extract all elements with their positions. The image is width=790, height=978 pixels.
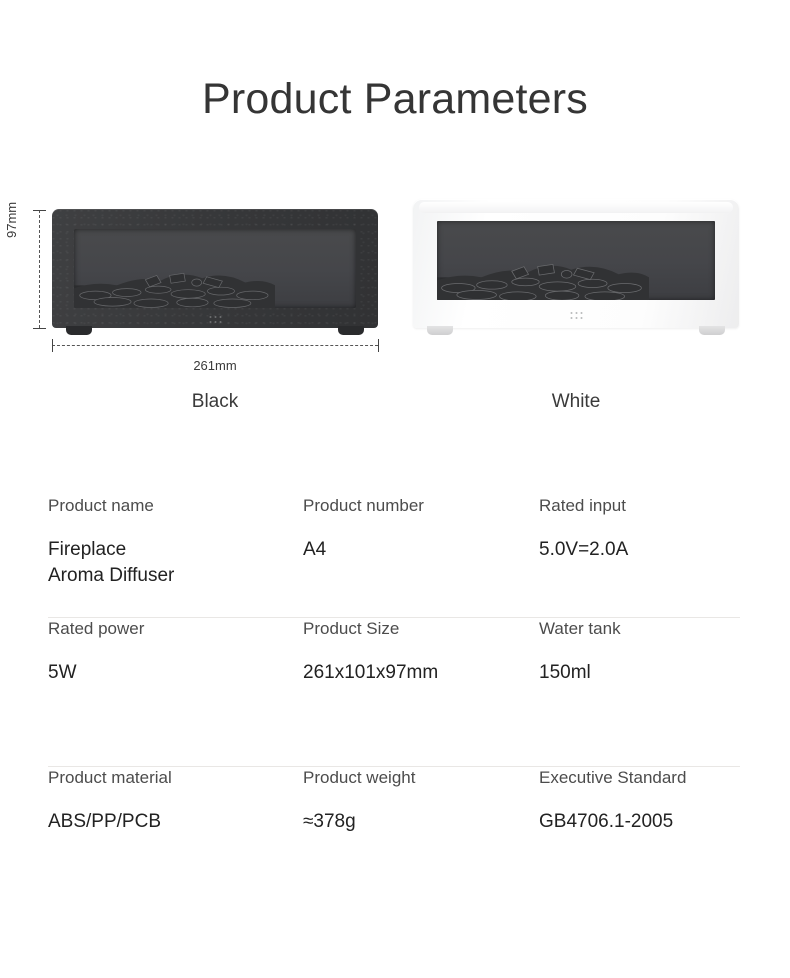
unit-foot-left bbox=[66, 326, 92, 335]
white-fireplace-unit bbox=[413, 199, 739, 328]
product-showcase: 97mm 261mm Black White bbox=[0, 0, 790, 430]
width-dimension-tick-start bbox=[52, 339, 53, 352]
spec-value: ABS/PP/PCB bbox=[48, 809, 291, 835]
spec-label: Product name bbox=[48, 495, 291, 517]
width-dimension-label: 261mm bbox=[52, 358, 378, 373]
width-dimension-tick-end bbox=[378, 339, 379, 352]
black-fireplace-unit bbox=[52, 209, 378, 328]
spec-label: Executive Standard bbox=[539, 767, 736, 789]
table-row: Product material ABS/PP/PCB Product weig… bbox=[48, 767, 748, 915]
spec-value: 150ml bbox=[539, 660, 736, 686]
width-dimension-line bbox=[52, 345, 378, 346]
spec-label: Rated power bbox=[48, 618, 291, 640]
spec-cell-water-tank: Water tank 150ml bbox=[539, 618, 748, 766]
spec-value: GB4706.1-2005 bbox=[539, 809, 736, 835]
spec-value: 5.0V=2.0A bbox=[539, 537, 736, 563]
spec-cell-executive-standard: Executive Standard GB4706.1-2005 bbox=[539, 767, 748, 915]
variant-caption-black: Black bbox=[52, 391, 378, 413]
height-dimension-tick-top bbox=[33, 210, 46, 211]
spec-cell-product-name: Product name Fireplace Aroma Diffuser bbox=[48, 495, 303, 617]
control-panel-dots[interactable] bbox=[209, 316, 222, 324]
spec-cell-product-number: Product number A4 bbox=[303, 495, 539, 617]
specifications-table: Product name Fireplace Aroma Diffuser Pr… bbox=[48, 495, 748, 915]
spec-label: Product weight bbox=[303, 767, 527, 789]
ember-logs-graphic bbox=[74, 264, 275, 308]
ember-logs-graphic bbox=[437, 256, 649, 300]
spec-value: Fireplace Aroma Diffuser bbox=[48, 537, 291, 588]
table-row: Product name Fireplace Aroma Diffuser Pr… bbox=[48, 495, 748, 617]
spec-value: A4 bbox=[303, 537, 527, 563]
height-dimension-tick-bottom bbox=[33, 328, 46, 329]
control-panel-dots[interactable] bbox=[570, 312, 583, 320]
spec-cell-rated-power: Rated power 5W bbox=[48, 618, 303, 766]
spec-label: Water tank bbox=[539, 618, 736, 640]
spec-cell-rated-input: Rated input 5.0V=2.0A bbox=[539, 495, 748, 617]
unit-screen bbox=[437, 221, 715, 300]
unit-foot-right bbox=[338, 326, 364, 335]
spec-value: ≈378g bbox=[303, 809, 527, 835]
height-dimension-line bbox=[39, 210, 40, 328]
spec-value: 261x101x97mm bbox=[303, 660, 527, 686]
spec-cell-product-weight: Product weight ≈378g bbox=[303, 767, 539, 915]
spec-label: Product Size bbox=[303, 618, 527, 640]
spec-label: Product material bbox=[48, 767, 291, 789]
spec-label: Rated input bbox=[539, 495, 736, 517]
spec-cell-product-material: Product material ABS/PP/PCB bbox=[48, 767, 303, 915]
unit-top-surface bbox=[419, 202, 733, 213]
unit-screen bbox=[74, 229, 356, 308]
variant-caption-white: White bbox=[413, 391, 739, 413]
spec-value: 5W bbox=[48, 660, 291, 686]
spec-label: Product number bbox=[303, 495, 527, 517]
unit-foot-right bbox=[699, 326, 725, 335]
spec-cell-product-size: Product Size 261x101x97mm bbox=[303, 618, 539, 766]
height-dimension-label: 97mm bbox=[4, 202, 19, 238]
unit-foot-left bbox=[427, 326, 453, 335]
table-row: Rated power 5W Product Size 261x101x97mm… bbox=[48, 618, 748, 766]
